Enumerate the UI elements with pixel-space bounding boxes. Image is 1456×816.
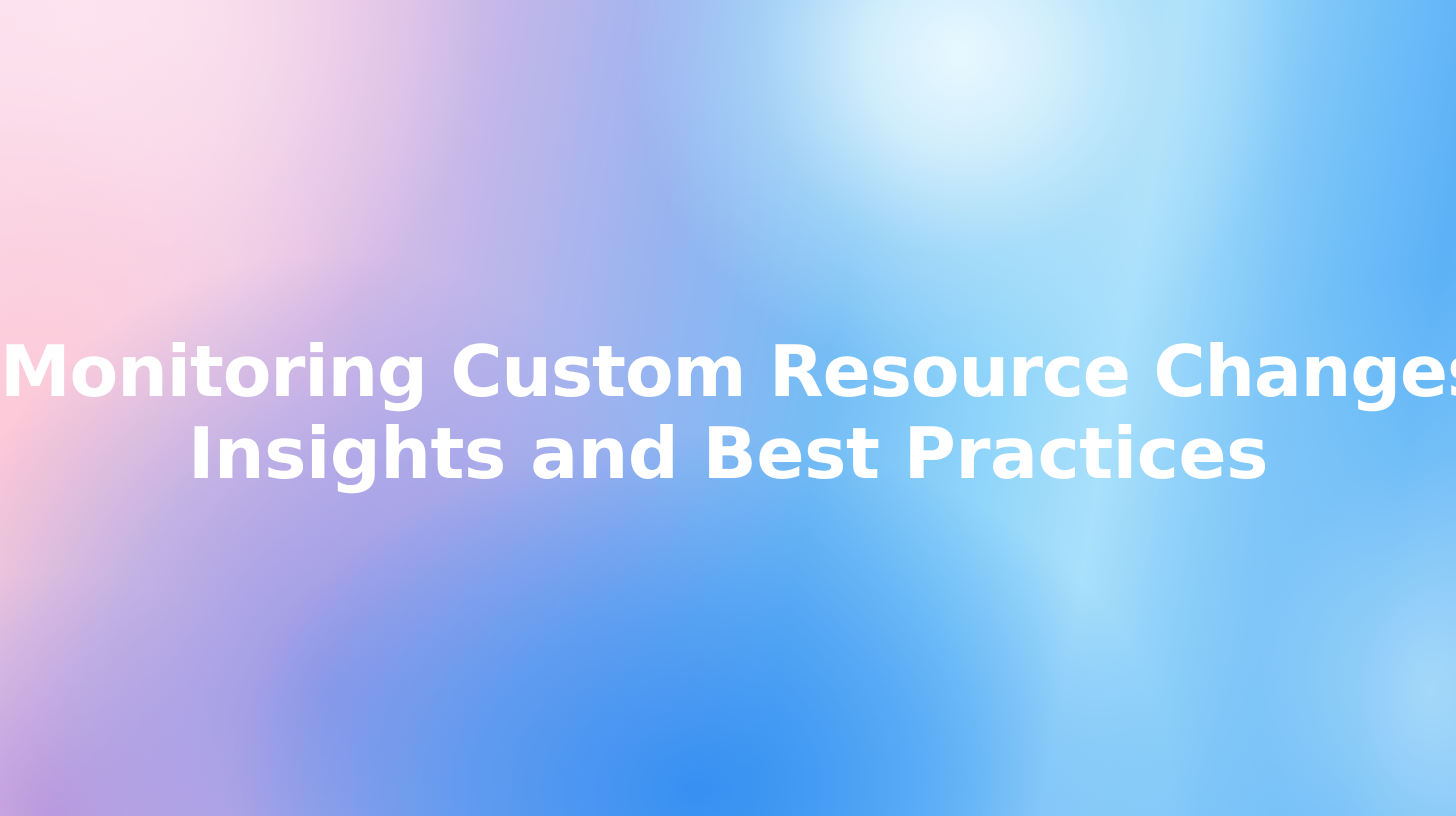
page-title-line-1: Monitoring Custom Resource Changes: Key (0, 331, 1456, 413)
title-block: Monitoring Custom Resource Changes: Key … (0, 331, 1456, 495)
hero-banner: Monitoring Custom Resource Changes: Key … (0, 0, 1456, 816)
page-title-line-2: Insights and Best Practices (0, 413, 1456, 495)
page-title: Monitoring Custom Resource Changes: Key … (0, 331, 1456, 495)
